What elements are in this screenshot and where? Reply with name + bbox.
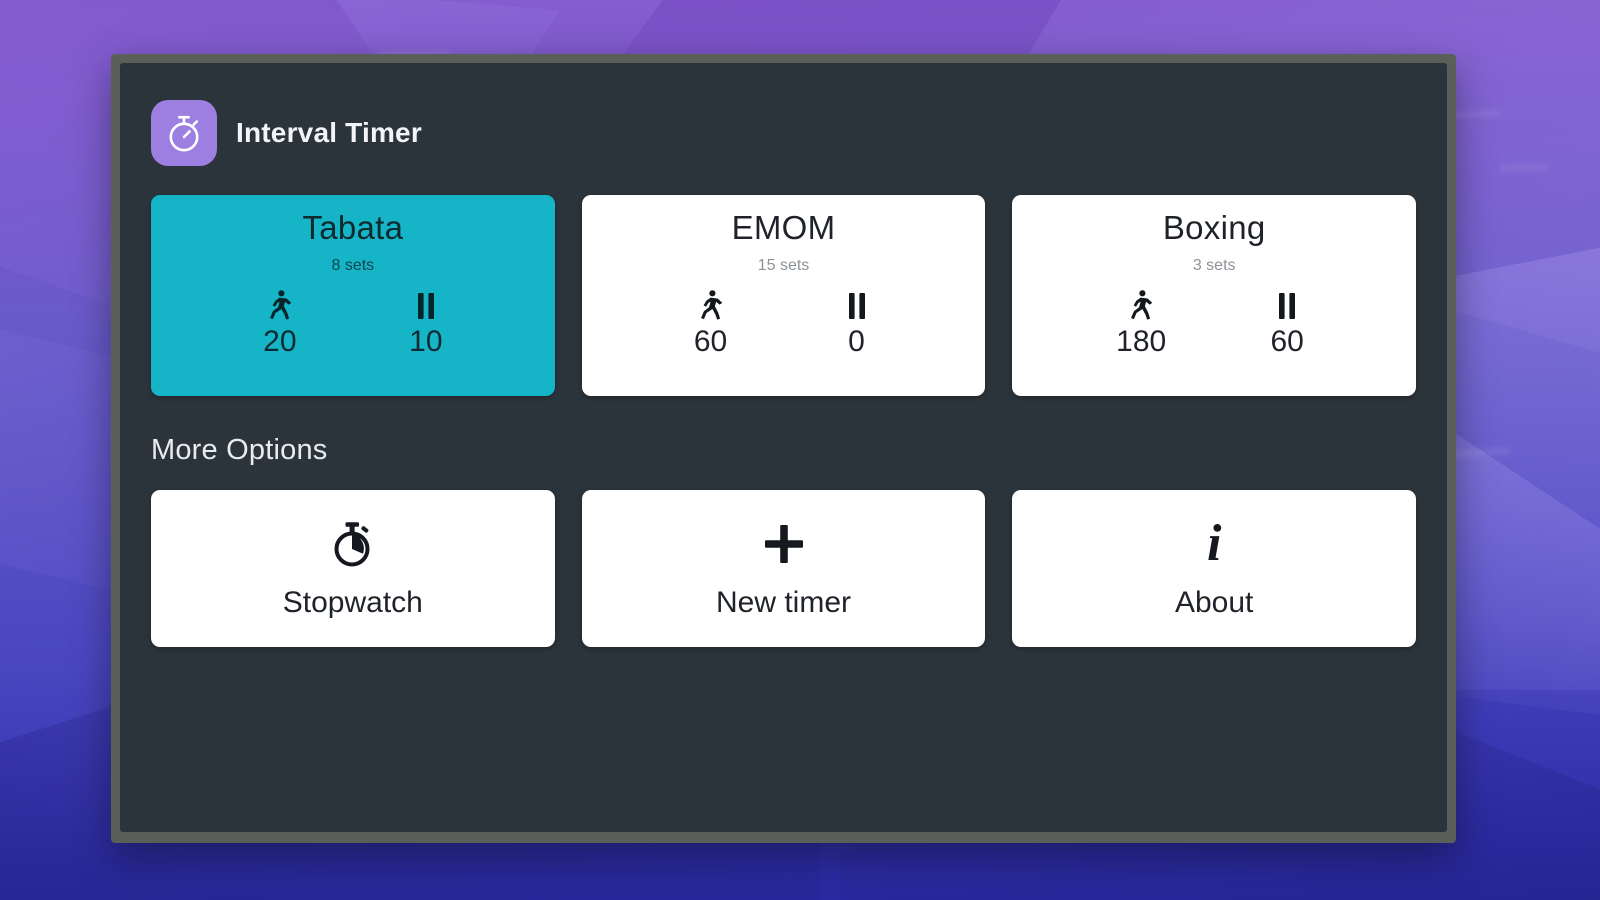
timer-name: EMOM — [732, 209, 836, 247]
stopwatch-icon — [151, 100, 217, 166]
preset-timer-list: Tabata 8 sets 20 — [151, 195, 1416, 396]
timer-name: Tabata — [302, 209, 403, 247]
rest-value: 10 — [409, 325, 442, 358]
running-person-icon — [1129, 289, 1153, 323]
work-metric: 180 — [1114, 289, 1168, 358]
timer-metrics: 60 0 — [592, 289, 976, 358]
app-header: Interval Timer — [151, 97, 1416, 169]
timer-metrics: 20 10 — [161, 289, 545, 358]
about-button[interactable]: i About — [1012, 490, 1416, 647]
action-label: New timer — [716, 586, 851, 619]
work-value: 60 — [694, 325, 727, 358]
running-person-icon — [268, 289, 292, 323]
running-person-icon — [699, 289, 723, 323]
work-value: 180 — [1116, 325, 1166, 358]
work-metric: 60 — [684, 289, 738, 358]
work-value: 20 — [263, 325, 296, 358]
info-icon: i — [1207, 518, 1221, 570]
timer-card-emom[interactable]: EMOM 15 sets 60 — [582, 195, 986, 396]
stopwatch-icon — [328, 518, 378, 570]
timer-card-tabata[interactable]: Tabata 8 sets 20 — [151, 195, 555, 396]
new-timer-button[interactable]: New timer — [582, 490, 986, 647]
rest-value: 60 — [1270, 325, 1303, 358]
timer-name: Boxing — [1163, 209, 1266, 247]
info-glyph: i — [1207, 520, 1221, 568]
rest-value: 0 — [848, 325, 865, 358]
timer-sets: 8 sets — [331, 257, 374, 275]
rest-metric: 10 — [399, 289, 453, 358]
work-metric: 20 — [253, 289, 307, 358]
app-window: Interval Timer Tabata 8 sets — [111, 54, 1456, 843]
page-title: Interval Timer — [236, 117, 422, 149]
action-label: About — [1175, 586, 1253, 619]
more-options-list: Stopwatch New timer i About — [151, 490, 1416, 647]
action-label: Stopwatch — [283, 586, 423, 619]
pause-icon — [415, 289, 437, 323]
app-surface: Interval Timer Tabata 8 sets — [120, 63, 1447, 832]
timer-metrics: 180 60 — [1022, 289, 1406, 358]
plus-icon — [759, 518, 809, 570]
more-options-heading: More Options — [151, 434, 1416, 467]
desktop-wallpaper: Interval Timer Tabata 8 sets — [0, 0, 1600, 900]
stopwatch-button[interactable]: Stopwatch — [151, 490, 555, 647]
wallpaper-streak — [1500, 164, 1548, 171]
timer-sets: 15 sets — [758, 257, 810, 275]
timer-card-boxing[interactable]: Boxing 3 sets 180 — [1012, 195, 1416, 396]
pause-icon — [846, 289, 868, 323]
timer-sets: 3 sets — [1193, 257, 1236, 275]
rest-metric: 0 — [830, 289, 884, 358]
rest-metric: 60 — [1260, 289, 1314, 358]
pause-icon — [1276, 289, 1298, 323]
